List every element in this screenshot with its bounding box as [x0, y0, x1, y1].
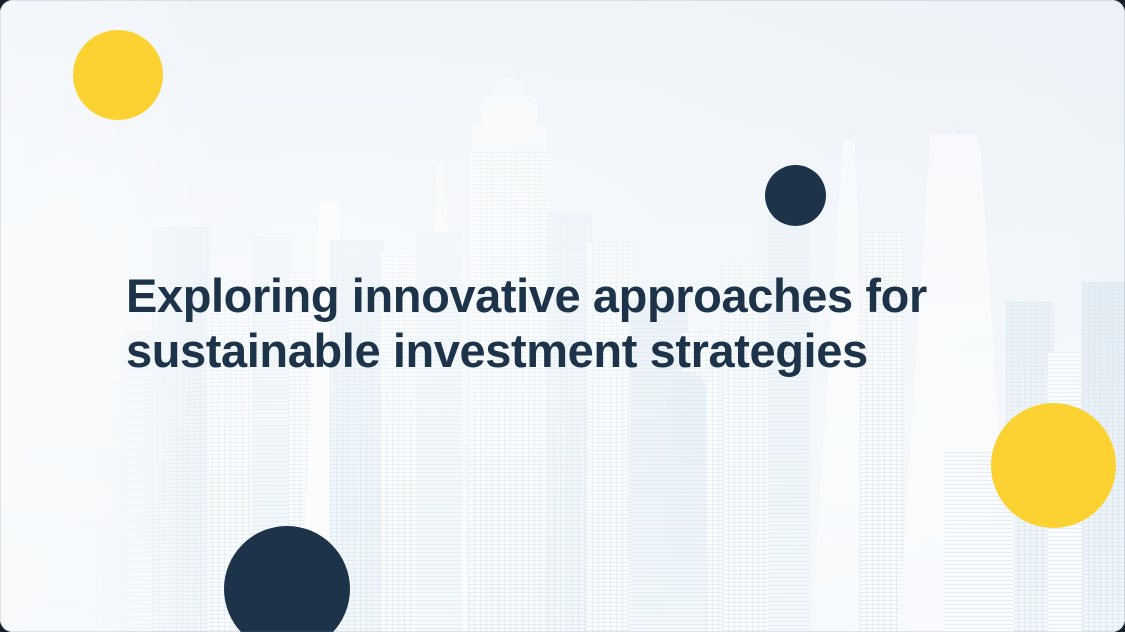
presentation-slide: Exploring innovative approaches for sust…	[0, 0, 1125, 632]
circle-navy-upper-right	[765, 165, 826, 226]
circle-yellow-bottom-right	[991, 403, 1116, 528]
headline-line-2: sustainable investment strategies	[126, 323, 986, 378]
circle-yellow-top-left	[73, 30, 163, 120]
slide-headline: Exploring innovative approaches for sust…	[126, 268, 986, 378]
headline-line-1: Exploring innovative approaches for	[126, 268, 986, 323]
